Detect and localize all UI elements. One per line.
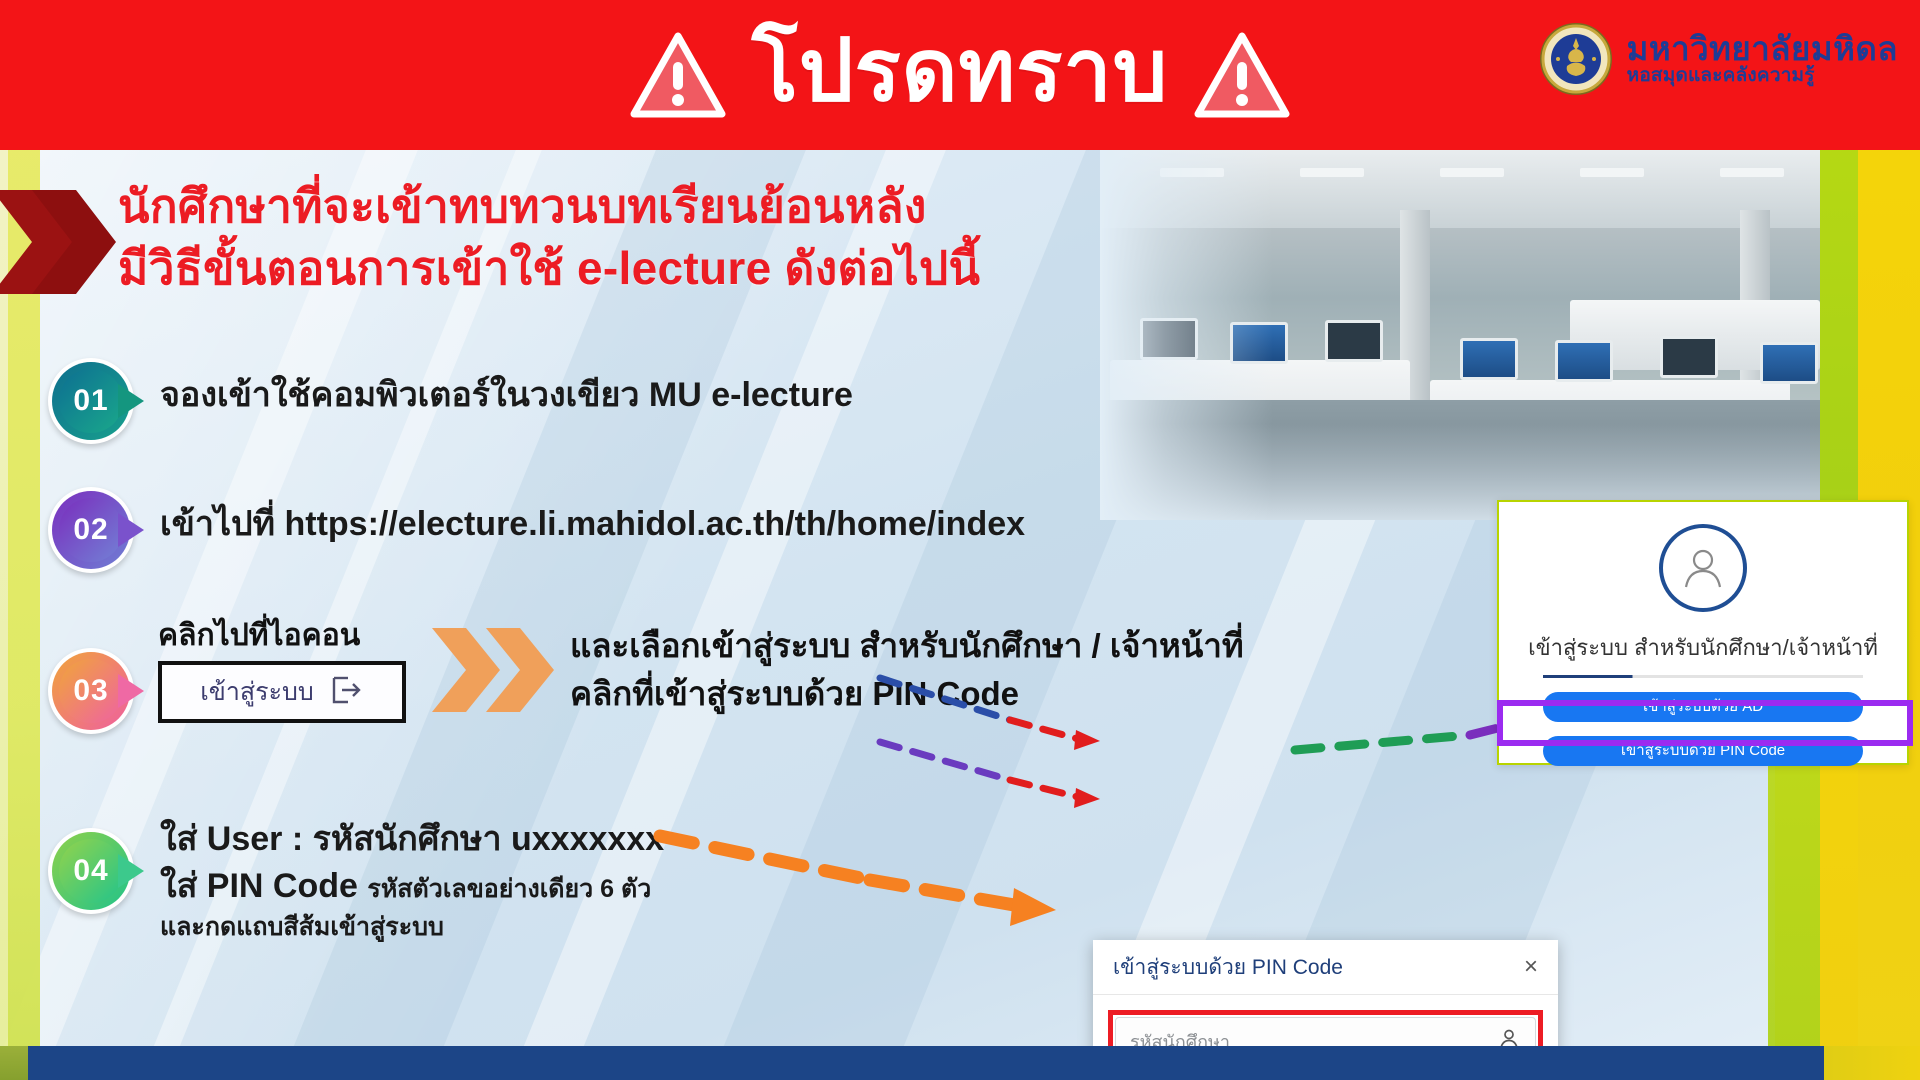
headline-line-1: นักศึกษาที่จะเข้าทบทวนบทเรียนย้อนหลัง xyxy=(118,175,1238,237)
warning-triangle-icon xyxy=(1194,32,1290,118)
badge-tail xyxy=(118,513,146,547)
step-number-badge: 02 xyxy=(48,487,134,573)
banner-title-text: โปรดทราบ xyxy=(752,28,1169,114)
step-number-badge: 03 xyxy=(48,648,134,734)
warning-triangle-icon xyxy=(630,32,726,118)
step-04: 04 ใส่ User : รหัสนักศึกษา uxxxxxxx ใส่ … xyxy=(48,814,664,944)
step-03: 03 คลิกไปที่ไอคอน เข้าสู่ระบบ xyxy=(48,618,1244,734)
mahidol-logo: มหาวิทยาลัยมหิดล หอสมุดและคลังความรู้ xyxy=(1539,16,1898,102)
bottom-bar-left-accent xyxy=(0,1046,28,1080)
top-banner: โปรดทราบ มหาวิทยาลัยมหิดล หอส xyxy=(0,0,1920,150)
logo-subtitle: หอสมุดและคลังความรู้ xyxy=(1627,66,1898,86)
login-icon-button-label: เข้าสู่ระบบ xyxy=(200,672,314,712)
close-icon[interactable]: × xyxy=(1524,955,1538,979)
step-01: 01 จองเข้าใช้คอมพิวเตอร์ในวงเขียว MU e-l… xyxy=(48,358,853,444)
step-03-right-line-2: คลิกที่เข้าสู่ระบบด้วย PIN Code xyxy=(570,670,1244,718)
step-number-badge: 01 xyxy=(48,358,134,444)
step-02: 02 เข้าไปที่ https://electure.li.mahidol… xyxy=(48,487,1025,573)
step-03-right: และเลือกเข้าสู่ระบบ สำหรับนักศึกษา / เจ้… xyxy=(570,618,1244,718)
user-avatar-icon xyxy=(1659,524,1747,612)
step-number: 02 xyxy=(59,498,123,562)
step-number: 01 xyxy=(59,369,123,433)
double-chevron-right-icon xyxy=(0,180,120,315)
bottom-bar-right-accent xyxy=(1824,1046,1920,1080)
step-04-text: ใส่ User : รหัสนักศึกษา uxxxxxxx ใส่ PIN… xyxy=(134,814,664,944)
logo-text-block: มหาวิทยาลัยมหิดล หอสมุดและคลังความรู้ xyxy=(1627,32,1898,87)
pin-modal-header: เข้าสู่ระบบด้วย PIN Code × xyxy=(1093,940,1558,995)
badge-tail xyxy=(118,674,146,708)
logo-university-name: มหาวิทยาลัยมหิดล xyxy=(1627,32,1898,67)
login-icon-button[interactable]: เข้าสู่ระบบ xyxy=(158,661,406,723)
pin-modal-title: เข้าสู่ระบบด้วย PIN Code xyxy=(1113,951,1343,984)
page-title: นักศึกษาที่จะเข้าทบทวนบทเรียนย้อนหลัง มี… xyxy=(118,175,1238,299)
step-number: 03 xyxy=(59,659,123,723)
step-number-badge: 04 xyxy=(48,828,134,914)
badge-tail xyxy=(118,854,146,888)
step-04-line-2-sub: รหัสตัวเลขอย่างเดียว 6 ตัว xyxy=(367,875,651,903)
login-arrow-icon xyxy=(330,675,364,710)
headline-line-2: มีวิธีขั้นตอนการเข้าใช้ e-lecture ดังต่อ… xyxy=(118,237,1238,299)
step-number: 04 xyxy=(59,839,123,903)
step-04-line-3: และกดแถบสีส้มเข้าสู่ระบบ xyxy=(160,910,664,945)
step-04-line-1: ใส่ User : รหัสนักศึกษา uxxxxxxx xyxy=(160,816,664,863)
login-card: เข้าสู่ระบบ สำหรับนักศึกษา/เจ้าหน้าที่ เ… xyxy=(1497,500,1909,765)
step-03-right-line-1: และเลือกเข้าสู่ระบบ สำหรับนักศึกษา / เจ้… xyxy=(570,622,1244,670)
step-01-text: จองเข้าใช้คอมพิวเตอร์ในวงเขียว MU e-lect… xyxy=(134,358,853,419)
pin-button-highlight xyxy=(1497,700,1913,746)
step-03-label: คลิกไปที่ไอคอน xyxy=(158,618,406,654)
step-03-left: คลิกไปที่ไอคอน เข้าสู่ระบบ xyxy=(134,618,406,723)
login-card-caption: เข้าสู่ระบบ สำหรับนักศึกษา/เจ้าหน้าที่ xyxy=(1499,630,1907,665)
page-body: นักศึกษาที่จะเข้าทบทวนบทเรียนย้อนหลัง มี… xyxy=(0,150,1920,1080)
badge-tail xyxy=(118,384,146,418)
bottom-bar xyxy=(0,1046,1920,1080)
double-chevron-right-icon xyxy=(428,622,558,723)
step-04-line-2: ใส่ PIN Code รหัสตัวเลขอย่างเดียว 6 ตัว xyxy=(160,863,664,910)
mahidol-seal-icon xyxy=(1539,22,1613,96)
login-card-divider xyxy=(1543,675,1863,678)
step-04-line-2-strong: ใส่ PIN Code xyxy=(160,867,358,905)
step-02-text: เข้าไปที่ https://electure.li.mahidol.ac… xyxy=(134,487,1025,548)
